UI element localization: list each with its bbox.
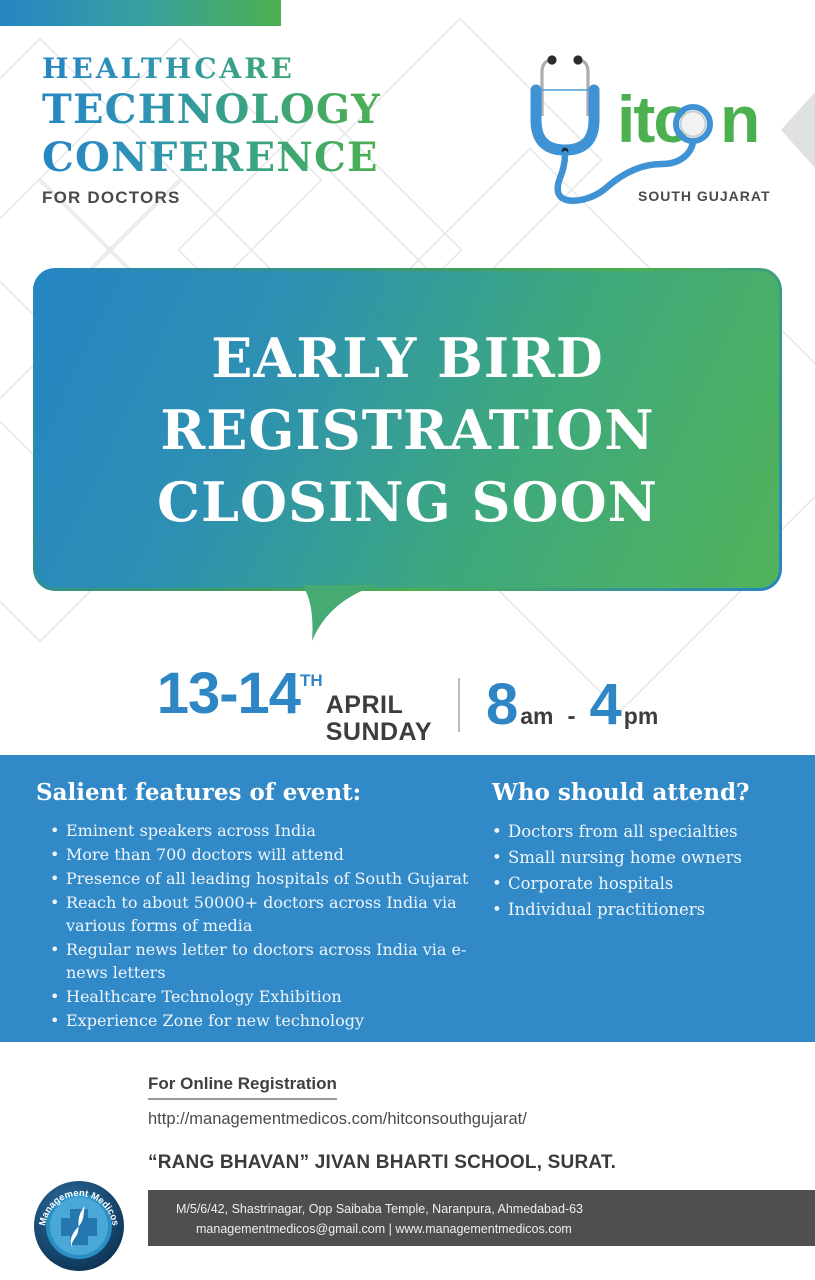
- date-number: 13-14: [157, 665, 300, 723]
- banner-line-1: EARLY BIRD: [211, 322, 603, 394]
- title-line-conference: CONFERENCE: [42, 134, 381, 182]
- features-column: Salient features of event: Eminent speak…: [0, 779, 480, 1033]
- event-datetime: 13-14 TH APRIL SUNDAY 8 am - 4 pm: [0, 662, 815, 748]
- list-item: Eminent speakers across India: [50, 819, 480, 842]
- management-medicos-logo: Management Medicos: [33, 1180, 125, 1272]
- end-time-meridiem: pm: [624, 703, 659, 730]
- registration-url-link[interactable]: http://managementmedicos.com/hitconsouth…: [148, 1110, 527, 1129]
- audience-title: Who should attend?: [492, 779, 815, 806]
- banner-line-3: CLOSING SOON: [157, 466, 658, 538]
- date-month-weekday: APRIL SUNDAY: [326, 692, 432, 746]
- announcement-banner: EARLY BIRD REGISTRATION CLOSING SOON: [33, 268, 782, 591]
- list-item: Small nursing home owners: [492, 845, 815, 870]
- title-line-technology: TECHNOLOGY: [42, 86, 381, 134]
- datetime-divider: [458, 678, 460, 732]
- poster-root: HEALTHCARE TECHNOLOGY CONFERENCE FOR DOC…: [0, 0, 815, 1280]
- features-title: Salient features of event:: [36, 779, 480, 806]
- svg-text:n: n: [720, 82, 760, 156]
- stethoscope-icon: itc n: [520, 46, 800, 206]
- list-item: Doctors from all specialties: [492, 819, 815, 844]
- audience-list: Doctors from all specialties Small nursi…: [492, 819, 815, 922]
- venue-text: “RANG BHAVAN” JIVAN BHARTI SCHOOL, SURAT…: [148, 1152, 616, 1174]
- list-item: Corporate hospitals: [492, 871, 815, 896]
- organizer-address: M/5/6/42, Shastrinagar, Opp Saibaba Temp…: [176, 1199, 815, 1219]
- date-ordinal-suffix: TH: [300, 671, 323, 691]
- date-weekday: SUNDAY: [326, 718, 432, 746]
- title-subtitle: FOR DOCTORS: [42, 188, 381, 208]
- list-item: Regular news letter to doctors across In…: [50, 938, 480, 984]
- logo-caption: SOUTH GUJARAT: [638, 188, 771, 204]
- registration-label: For Online Registration: [148, 1074, 337, 1100]
- time-range-separator: -: [568, 703, 576, 731]
- banner-line-2: REGISTRATION: [160, 394, 654, 466]
- date-month: APRIL: [326, 691, 404, 719]
- list-item: Presence of all leading hospitals of Sou…: [50, 867, 480, 890]
- list-item: Reach to about 50000+ doctors across Ind…: [50, 891, 480, 937]
- list-item: Individual practitioners: [492, 897, 815, 922]
- start-time-meridiem: am: [520, 703, 553, 730]
- audience-column: Who should attend? Doctors from all spec…: [480, 779, 815, 1033]
- list-item: More than 700 doctors will attend: [50, 843, 480, 866]
- end-time-number: 4: [590, 676, 621, 734]
- page-title: HEALTHCARE TECHNOLOGY CONFERENCE FOR DOC…: [42, 52, 381, 208]
- event-time: 8 am - 4 pm: [486, 676, 658, 734]
- event-date: 13-14 TH APRIL SUNDAY: [157, 665, 432, 746]
- banner-tail: [298, 585, 378, 641]
- top-accent-bar: [0, 0, 281, 26]
- info-section: Salient features of event: Eminent speak…: [0, 755, 815, 1042]
- organizer-contact: managementmedicos@gmail.com | www.manage…: [176, 1219, 815, 1239]
- list-item: Healthcare Technology Exhibition: [50, 985, 480, 1008]
- list-item: Experience Zone for new technology: [50, 1009, 480, 1032]
- hitcon-logo: itc n SOUTH GUJARAT: [520, 46, 800, 206]
- organizer-address-bar: M/5/6/42, Shastrinagar, Opp Saibaba Temp…: [148, 1190, 815, 1246]
- start-time-number: 8: [486, 676, 517, 734]
- title-line-healthcare: HEALTHCARE: [42, 52, 381, 86]
- features-list: Eminent speakers across India More than …: [36, 819, 480, 1032]
